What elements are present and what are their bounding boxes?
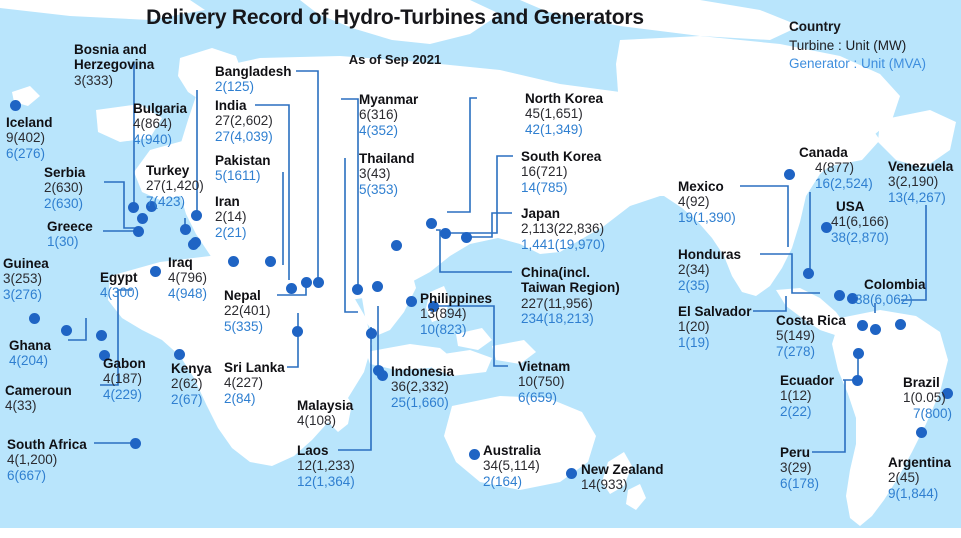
marker-thailand[interactable] — [372, 281, 383, 292]
country-name: Iceland — [6, 115, 53, 130]
label-south-africa: South Africa 4(1,200) 6(667) — [7, 437, 87, 483]
turbine-value: 2(45) — [888, 470, 951, 485]
label-peru: Peru 3(29) 6(178) — [780, 445, 819, 491]
turbine-value: 4(1,200) — [7, 452, 87, 467]
turbine-value: 1(0.05) — [903, 390, 952, 405]
turbine-value: 2(62) — [171, 376, 212, 391]
marker-costa-rica[interactable] — [857, 320, 868, 331]
marker-colombia[interactable] — [870, 324, 881, 335]
marker-iraq[interactable] — [190, 237, 201, 248]
label-myanmar: Myanmar 6(316) 4(352) — [359, 92, 418, 138]
country-name: Cameroun — [5, 383, 72, 398]
label-argentina: Argentina 2(45) 9(1,844) — [888, 455, 951, 501]
country-name: Iran — [215, 194, 247, 209]
turbine-value: 4(33) — [5, 398, 72, 413]
generator-value: 2(630) — [44, 196, 85, 211]
marker-laos[interactable] — [366, 328, 377, 339]
marker-indonesia[interactable] — [377, 370, 388, 381]
turbine-value: 14(933) — [581, 477, 664, 492]
country-name: Honduras — [678, 247, 741, 262]
marker-japan[interactable] — [461, 232, 472, 243]
country-name: Costa Rica — [776, 313, 846, 328]
generator-value: 19(1,390) — [678, 210, 736, 225]
country-name: Bangladesh — [215, 64, 292, 79]
generator-value: 2(35) — [678, 278, 741, 293]
label-serbia: Serbia 2(630) 2(630) — [44, 165, 85, 211]
generator-value: 4(204) — [9, 353, 51, 368]
generator-value: 5(335) — [224, 319, 271, 334]
marker-gabon[interactable] — [96, 330, 107, 341]
label-turkey: Turkey 27(1,420) 7(423) — [146, 163, 204, 209]
generator-value: 7(278) — [776, 344, 846, 359]
turbine-value: 34(5,114) — [483, 458, 541, 473]
label-canada: Canada 4(877) 16(2,524) — [799, 145, 873, 191]
label-egypt: Egypt 4(300) — [100, 270, 139, 301]
turbine-value: 3(253) — [3, 271, 49, 286]
country-name: Philippines — [420, 291, 492, 306]
generator-value: 6(178) — [780, 476, 819, 491]
generator-value: 1(19) — [678, 335, 752, 350]
country-name: Malaysia — [297, 398, 353, 413]
generator-value: 2(125) — [215, 79, 292, 94]
country-name: Nepal — [224, 288, 271, 303]
label-brazil: Brazil 1(0.05) 7(800) — [903, 375, 952, 421]
generator-value: 4(229) — [103, 387, 146, 402]
generator-value: 7(800) — [913, 406, 952, 421]
country-name: Brazil — [903, 375, 952, 390]
label-iran: Iran 2(14) 2(21) — [215, 194, 247, 240]
marker-honduras[interactable] — [834, 290, 845, 301]
turbine-value: 12(1,233) — [297, 458, 355, 473]
country-name: USA — [836, 199, 889, 214]
marker-pakistan[interactable] — [228, 256, 239, 267]
label-sri-lanka: Sri Lanka 4(227) 2(84) — [224, 360, 285, 406]
country-name: Bosnia and — [74, 42, 154, 57]
turbine-value: 4(108) — [297, 413, 353, 428]
generator-value: 6(276) — [6, 146, 53, 161]
label-laos: Laos 12(1,233) 12(1,364) — [297, 443, 355, 489]
generator-value: 6(659) — [518, 390, 570, 405]
generator-value: 5(1611) — [215, 168, 271, 183]
country-name: Greece — [47, 219, 93, 234]
marker-new-zealand[interactable] — [566, 468, 577, 479]
turbine-value: 1(12) — [780, 388, 834, 403]
turbine-value: 4(92) — [678, 194, 736, 209]
label-guinea: Guinea 3(253) 3(276) — [3, 256, 49, 302]
country-name: Canada — [799, 145, 873, 160]
turbine-value: 27(1,420) — [146, 178, 204, 193]
country-name: Japan — [521, 206, 605, 221]
country-name: Venezuela — [888, 159, 953, 174]
marker-north-korea[interactable] — [426, 218, 437, 229]
turbine-value: 5(149) — [776, 328, 846, 343]
turbine-value: 2(630) — [44, 180, 85, 195]
generator-value: 4(940) — [133, 132, 187, 147]
generator-value: 38(6,062) — [855, 292, 926, 307]
label-japan: Japan 2,113(22,836) 1,441(19,970) — [521, 206, 605, 252]
country-name: Ecuador — [780, 373, 834, 388]
marker-guinea[interactable] — [29, 313, 40, 324]
label-ghana: Ghana 4(204) — [9, 338, 51, 369]
label-vietnam: Vietnam 10(750) 6(659) — [518, 359, 570, 405]
label-thailand: Thailand 3(43) 5(353) — [359, 151, 415, 197]
label-india: India 27(2,602) 27(4,039) — [215, 98, 273, 144]
turbine-value: 9(402) — [6, 130, 53, 145]
marker-south-africa[interactable] — [130, 438, 141, 449]
country-name: Laos — [297, 443, 355, 458]
country-name: India — [215, 98, 273, 113]
country-name: Peru — [780, 445, 819, 460]
turbine-value: 3(43) — [359, 166, 415, 181]
generator-value: 234(18,213) — [521, 311, 620, 326]
label-venezuela: Venezuela 3(2,190) 13(4,267) — [888, 159, 953, 205]
turbine-value: 4(187) — [103, 371, 146, 386]
country-name-line2: Taiwan Region) — [521, 280, 620, 295]
turbine-value: 3(333) — [74, 73, 154, 88]
turbine-value: 3(29) — [780, 460, 819, 475]
country-name: Bulgaria — [133, 101, 187, 116]
country-name: El Salvador — [678, 304, 752, 319]
marker-egypt[interactable] — [150, 266, 161, 277]
marker-canada[interactable] — [784, 169, 795, 180]
turbine-value: 1(20) — [678, 319, 752, 334]
generator-value: 3(276) — [3, 287, 49, 302]
generator-value: 6(667) — [7, 468, 87, 483]
country-name: Guinea — [3, 256, 49, 271]
generator-value: 2(67) — [171, 392, 212, 407]
country-name: Gabon — [103, 356, 146, 371]
turbine-value: 4(864) — [133, 116, 187, 131]
turbine-value: 2(34) — [678, 262, 741, 277]
label-china: China(incl. Taiwan Region) 227(11,956) 2… — [521, 265, 620, 327]
country-name: Thailand — [359, 151, 415, 166]
generator-value: 2(164) — [483, 474, 541, 489]
marker-bangladesh[interactable] — [313, 277, 324, 288]
label-colombia: Colombia 38(6,062) — [864, 277, 926, 308]
generator-value: 16(2,524) — [815, 176, 873, 191]
country-name: Argentina — [888, 455, 951, 470]
country-name: North Korea — [525, 91, 603, 106]
turbine-value: 2,113(22,836) — [521, 221, 605, 236]
generator-value: 4(300) — [100, 285, 139, 300]
label-south-korea: South Korea 16(721) 14(785) — [521, 149, 601, 195]
label-nepal: Nepal 22(401) 5(335) — [224, 288, 271, 334]
turbine-value: 41(6,166) — [831, 214, 889, 229]
generator-value: 27(4,039) — [215, 129, 273, 144]
marker-nepal[interactable] — [301, 277, 312, 288]
turbine-value: 45(1,651) — [525, 106, 603, 121]
label-north-korea: North Korea 45(1,651) 42(1,349) — [525, 91, 603, 137]
marker-iceland[interactable] — [10, 100, 21, 111]
label-philippines: Philippines 13(894) 10(823) — [420, 291, 492, 337]
turbine-value: 36(2,332) — [391, 379, 454, 394]
marker-iran2[interactable] — [265, 256, 276, 267]
turbine-value: 27(2,602) — [215, 113, 273, 128]
label-costa-rica: Costa Rica 5(149) 7(278) — [776, 313, 846, 359]
turbine-value: 16(721) — [521, 164, 601, 179]
infographic-map: Delivery Record of Hydro-Turbines and Ge… — [0, 0, 961, 538]
turbine-value: 227(11,956) — [521, 296, 620, 311]
marker-india[interactable] — [286, 283, 297, 294]
country-name: Indonesia — [391, 364, 454, 379]
turbine-value: 13(894) — [420, 306, 492, 321]
generator-value: 2(22) — [780, 404, 834, 419]
turbine-value: 4(227) — [224, 375, 285, 390]
label-greece: Greece 1(30) — [47, 219, 93, 250]
label-bulgaria: Bulgaria 4(864) 4(940) — [133, 101, 187, 147]
label-malaysia: Malaysia 4(108) — [297, 398, 353, 429]
label-cameroun: Cameroun 4(33) — [5, 383, 72, 414]
country-name: Egypt — [100, 270, 139, 285]
label-honduras: Honduras 2(34) 2(35) — [678, 247, 741, 293]
country-name: Kenya — [171, 361, 212, 376]
label-indonesia: Indonesia 36(2,332) 25(1,660) — [391, 364, 454, 410]
country-name: Colombia — [864, 277, 926, 292]
marker-sri-lanka[interactable] — [292, 326, 303, 337]
marker-south-korea[interactable] — [440, 228, 451, 239]
generator-value: 1(30) — [47, 234, 93, 249]
marker-venezuela[interactable] — [895, 319, 906, 330]
label-kenya: Kenya 2(62) 2(67) — [171, 361, 212, 407]
country-name: Myanmar — [359, 92, 418, 107]
label-iceland: Iceland 9(402) 6(276) — [6, 115, 53, 161]
generator-value: 1,441(19,970) — [521, 237, 605, 252]
country-name: Iraq — [168, 255, 207, 270]
marker-ghana[interactable] — [61, 325, 72, 336]
marker-australia[interactable] — [469, 449, 480, 460]
country-name: Ghana — [9, 338, 51, 353]
country-name: China(incl. — [521, 265, 620, 280]
generator-value: 4(948) — [168, 286, 207, 301]
generator-value: 10(823) — [420, 322, 492, 337]
marker-greece[interactable] — [133, 226, 144, 237]
marker-bosnia[interactable] — [128, 202, 139, 213]
country-name: South Korea — [521, 149, 601, 164]
generator-value: 5(353) — [359, 182, 415, 197]
label-iraq: Iraq 4(796) 4(948) — [168, 255, 207, 301]
generator-value: 42(1,349) — [525, 122, 603, 137]
marker-turkey[interactable] — [180, 224, 191, 235]
country-name: Mexico — [678, 179, 736, 194]
generator-value: 25(1,660) — [391, 395, 454, 410]
turbine-value: 3(2,190) — [888, 174, 953, 189]
label-usa: USA 41(6,166) 38(2,870) — [836, 199, 889, 245]
turbine-value: 6(316) — [359, 107, 418, 122]
country-name-line2: Herzegovina — [74, 57, 154, 72]
marker-ecuador[interactable] — [853, 348, 864, 359]
marker-peru[interactable] — [852, 375, 863, 386]
generator-value: 13(4,267) — [888, 190, 953, 205]
label-australia: Australia 34(5,114) 2(164) — [483, 443, 541, 489]
turbine-value: 22(401) — [224, 303, 271, 318]
label-bangladesh: Bangladesh 2(125) — [215, 64, 292, 95]
turbine-value: 10(750) — [518, 374, 570, 389]
turbine-value: 2(14) — [215, 209, 247, 224]
turbine-value: 4(796) — [168, 270, 207, 285]
marker-kenya[interactable] — [174, 349, 185, 360]
generator-value: 2(84) — [224, 391, 285, 406]
label-pakistan: Pakistan 5(1611) — [215, 153, 271, 184]
country-name: South Africa — [7, 437, 87, 452]
marker-serbia[interactable] — [137, 213, 148, 224]
marker-myanmar[interactable] — [352, 284, 363, 295]
country-name: Sri Lanka — [224, 360, 285, 375]
label-mexico: Mexico 4(92) 19(1,390) — [678, 179, 736, 225]
label-new-zealand: New Zealand 14(933) — [581, 462, 664, 493]
country-name: Pakistan — [215, 153, 271, 168]
generator-value: 7(423) — [146, 194, 204, 209]
marker-mexico[interactable] — [803, 268, 814, 279]
generator-value: 38(2,870) — [831, 230, 889, 245]
label-bosnia-and-herzegovina: Bosnia and Herzegovina 3(333) — [74, 42, 154, 88]
generator-value: 2(21) — [215, 225, 247, 240]
marker-argentina[interactable] — [916, 427, 927, 438]
marker-philippines[interactable] — [406, 296, 417, 307]
generator-value: 4(352) — [359, 123, 418, 138]
label-el-salvador: El Salvador 1(20) 1(19) — [678, 304, 752, 350]
turbine-value: 4(877) — [815, 160, 873, 175]
marker-china[interactable] — [391, 240, 402, 251]
country-name: Vietnam — [518, 359, 570, 374]
generator-value: 12(1,364) — [297, 474, 355, 489]
label-gabon: Gabon 4(187) 4(229) — [103, 356, 146, 402]
country-name: Turkey — [146, 163, 204, 178]
country-name: Serbia — [44, 165, 85, 180]
generator-value: 14(785) — [521, 180, 601, 195]
country-name: Australia — [483, 443, 541, 458]
marker-bulgaria[interactable] — [191, 210, 202, 221]
label-ecuador: Ecuador 1(12) 2(22) — [780, 373, 834, 419]
country-name: New Zealand — [581, 462, 664, 477]
generator-value: 9(1,844) — [888, 486, 951, 501]
